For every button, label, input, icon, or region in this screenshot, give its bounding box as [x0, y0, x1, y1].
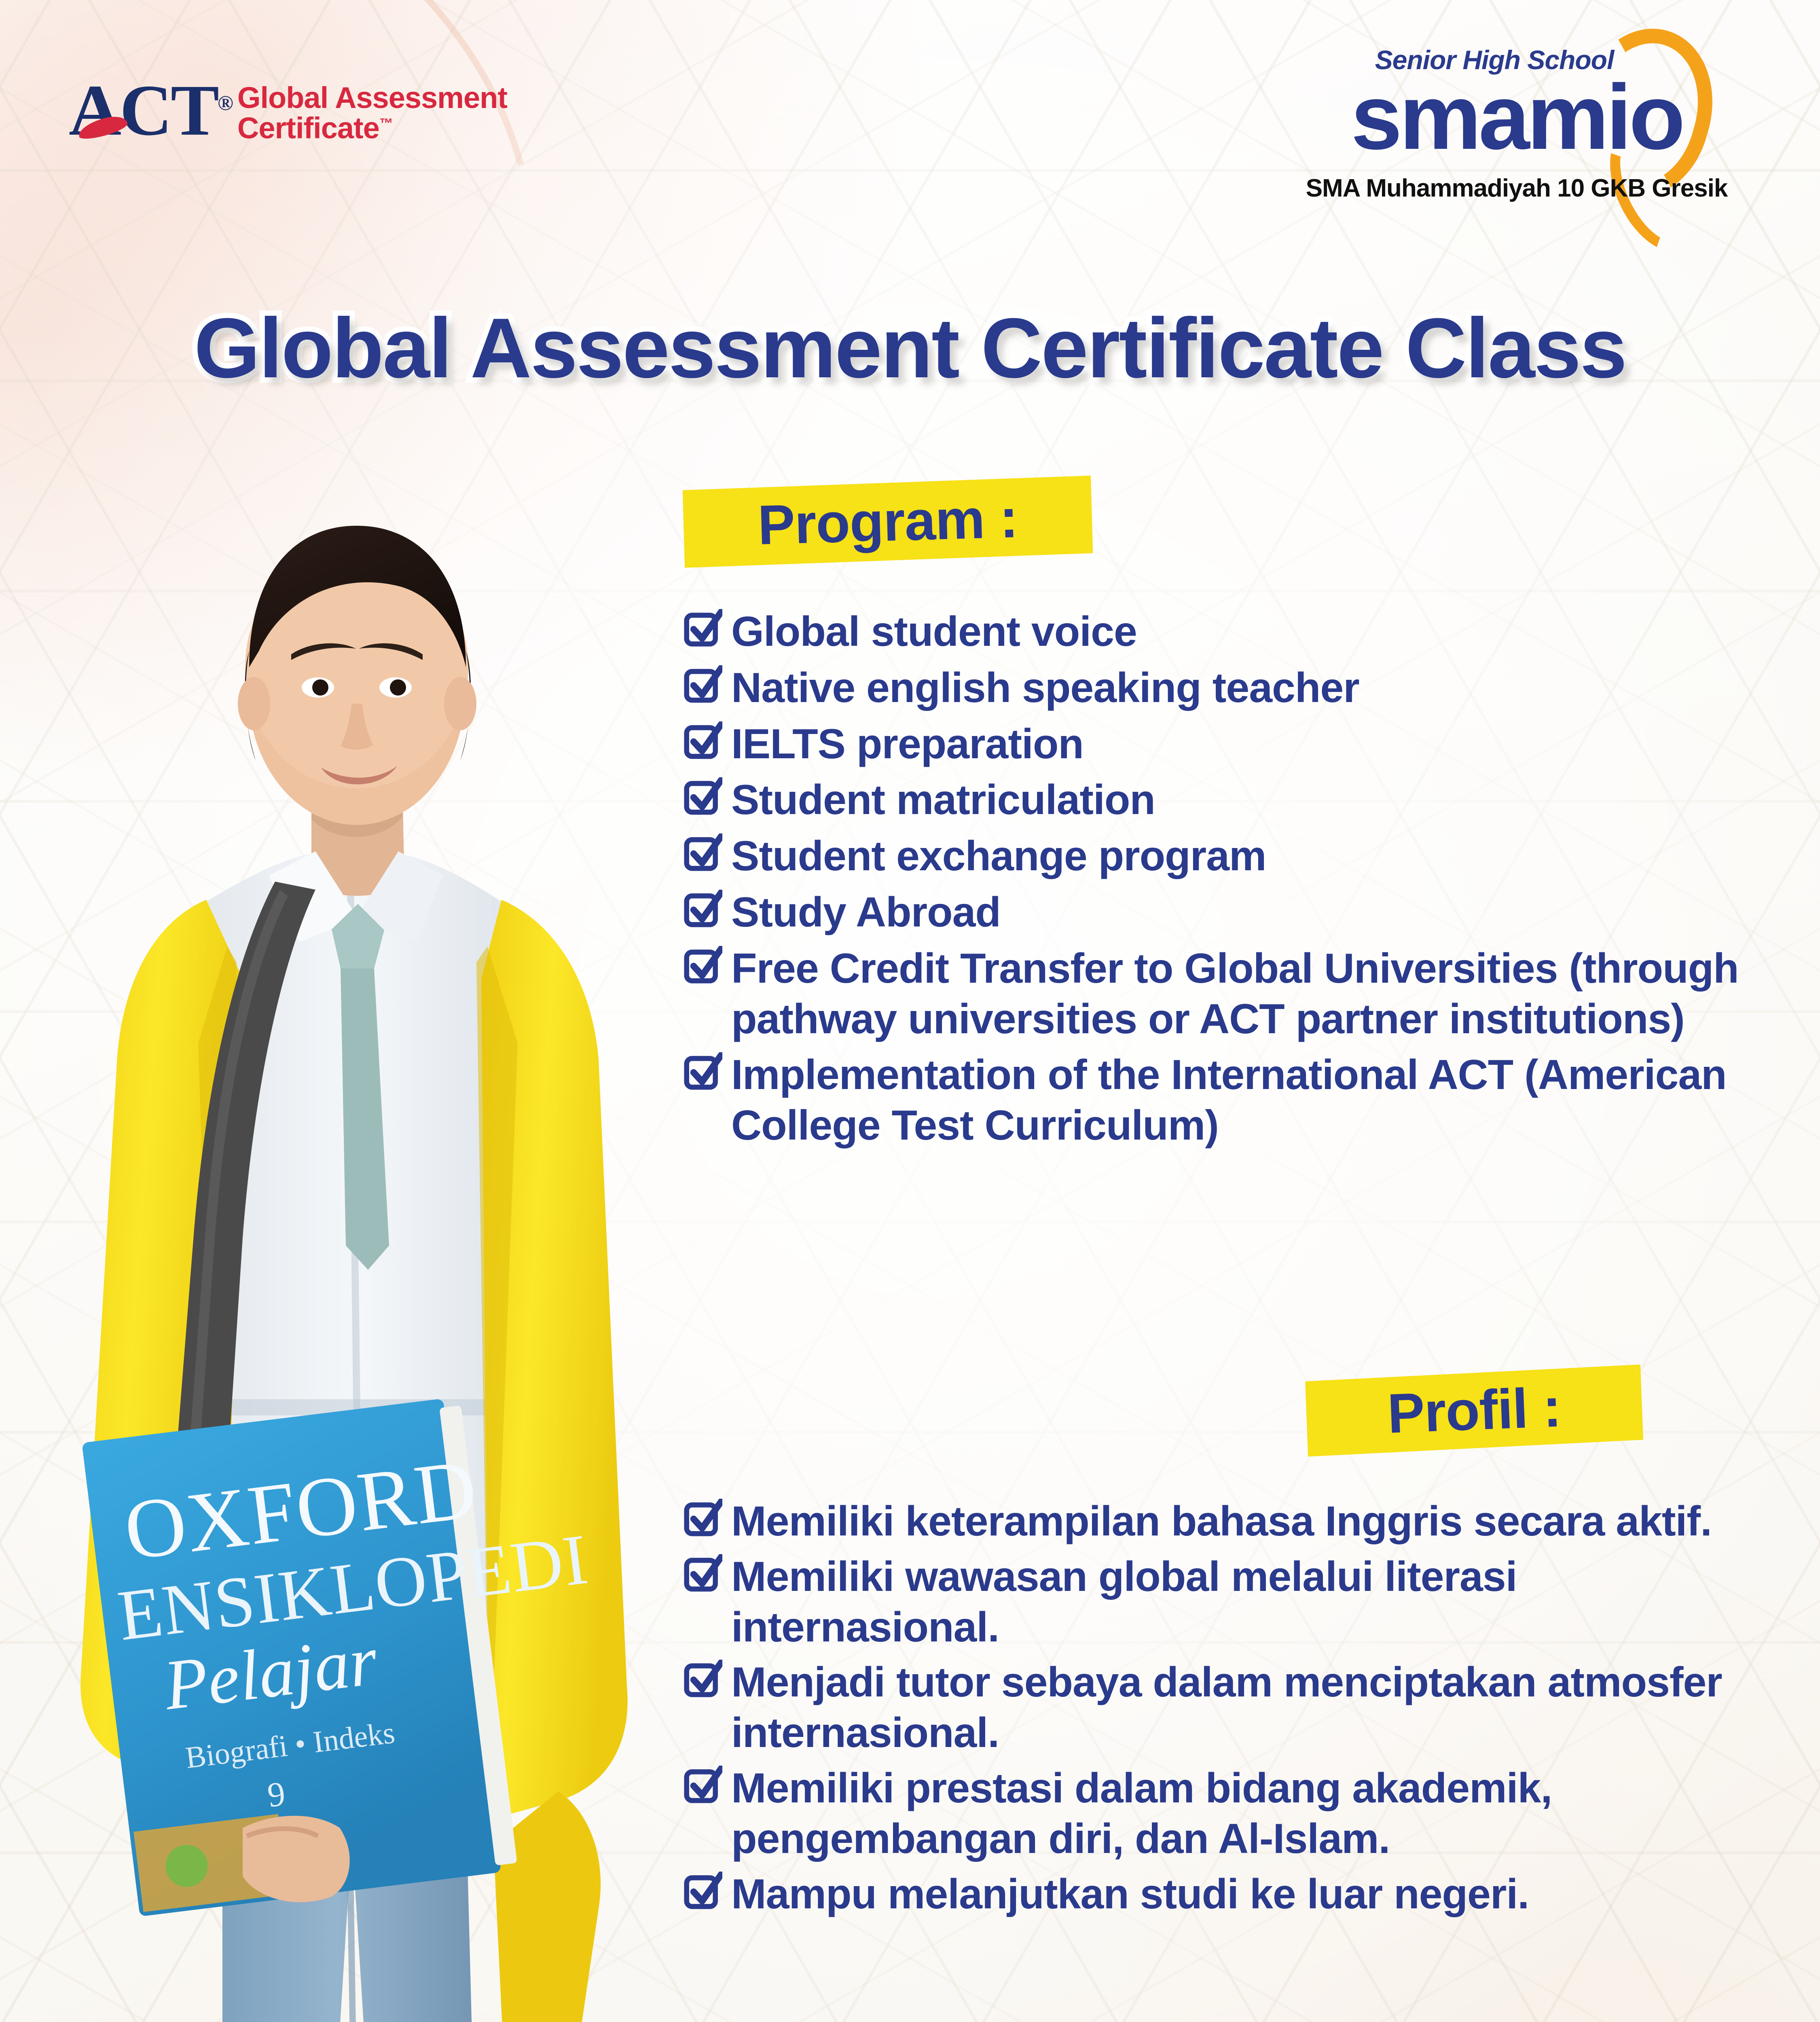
checkbox-checked-icon [684, 1052, 722, 1093]
checkbox-checked-icon [684, 1766, 722, 1806]
list-item: Free Credit Transfer to Global Universit… [684, 943, 1784, 1045]
list-item-label: Mampu melanjutkan studi ke luar negeri. [731, 1869, 1529, 1920]
checkbox-checked-icon [684, 946, 722, 987]
list-item: Global student voice [684, 607, 1784, 657]
checkbox-checked-icon [684, 1660, 722, 1701]
school-logo: Senior High School smamio SMA Muhammadiy… [1282, 44, 1751, 203]
checkbox-checked-icon [684, 1499, 722, 1540]
checkbox-checked-icon [684, 665, 722, 706]
list-item-label: Menjadi tutor sebaya dalam menciptakan a… [731, 1657, 1784, 1758]
program-badge: Program : [682, 476, 1093, 568]
list-item: Implementation of the International ACT … [684, 1050, 1784, 1151]
list-item-label: Memiliki prestasi dalam bidang akademik,… [731, 1763, 1784, 1864]
checkbox-checked-icon [684, 609, 722, 650]
checkbox-checked-icon [684, 1554, 722, 1595]
list-item: Memiliki keterampilan bahasa Inggris sec… [684, 1496, 1784, 1547]
list-item: Memiliki wawasan global melalui literasi… [684, 1552, 1784, 1653]
list-item-label: Global student voice [731, 607, 1137, 657]
list-item-label: Study Abroad [731, 887, 1001, 938]
profil-badge: Profil : [1305, 1364, 1644, 1457]
act-tagline-line2: Certificate™ [237, 113, 507, 143]
act-tagline: Global Assessment Certificate™ [237, 82, 507, 144]
profil-badge-label: Profil : [1386, 1375, 1562, 1446]
list-item-label: Free Credit Transfer to Global Universit… [731, 943, 1784, 1045]
checkbox-checked-icon [684, 890, 722, 931]
school-subtitle: SMA Muhammadiyah 10 GKB Gresik [1282, 174, 1751, 203]
profil-list: Memiliki keterampilan bahasa Inggris sec… [684, 1496, 1784, 1924]
list-item: Menjadi tutor sebaya dalam menciptakan a… [684, 1657, 1784, 1758]
checkbox-checked-icon [684, 1872, 722, 1912]
student-illustration: OXFORD ENSIKLOPEDI Pelajar Biografi • In… [32, 477, 663, 2022]
ear-left [238, 677, 270, 730]
list-item-label: Student matriculation [731, 775, 1155, 825]
list-item-label: Student exchange program [731, 831, 1266, 882]
list-item-label: Native english speaking teacher [731, 663, 1359, 713]
list-item-label: Memiliki keterampilan bahasa Inggris sec… [731, 1496, 1712, 1547]
registered-trademark-icon: ® [218, 92, 232, 115]
school-wordmark-wrap: smamio [1282, 71, 1751, 172]
list-item: Memiliki prestasi dalam bidang akademik,… [684, 1763, 1784, 1864]
list-item-label: IELTS preparation [731, 719, 1084, 770]
program-badge-label: Program : [757, 486, 1018, 558]
student-photo: OXFORD ENSIKLOPEDI Pelajar Biografi • In… [32, 477, 663, 2022]
list-item: Student exchange program [684, 831, 1784, 882]
act-tagline-line1: Global Assessment [237, 82, 507, 113]
ear-right [444, 677, 476, 730]
list-item: Study Abroad [684, 887, 1784, 938]
checkbox-checked-icon [684, 777, 722, 818]
poster-canvas: ACT® Global Assessment Certificate™ Seni… [0, 0, 1820, 2022]
act-wordmark: ACT® [69, 77, 232, 144]
trademark-icon: ™ [379, 116, 393, 131]
list-item: IELTS preparation [684, 719, 1784, 770]
list-item: Native english speaking teacher [684, 663, 1784, 713]
page-title: Global Assessment Certificate Class [0, 299, 1820, 397]
list-item: Student matriculation [684, 775, 1784, 825]
pupil-left [312, 679, 328, 696]
program-list: Global student voice Native english spea… [684, 607, 1784, 1157]
list-item-label: Memiliki wawasan global melalui literasi… [731, 1552, 1784, 1653]
list-item-label: Implementation of the International ACT … [731, 1050, 1784, 1151]
pupil-right [390, 679, 406, 696]
school-wordmark: smamio [1282, 71, 1751, 163]
act-logo: ACT® Global Assessment Certificate™ [69, 77, 507, 144]
list-item: Mampu melanjutkan studi ke luar negeri. [684, 1869, 1784, 1920]
checkbox-checked-icon [684, 721, 722, 762]
checkbox-checked-icon [684, 833, 722, 874]
